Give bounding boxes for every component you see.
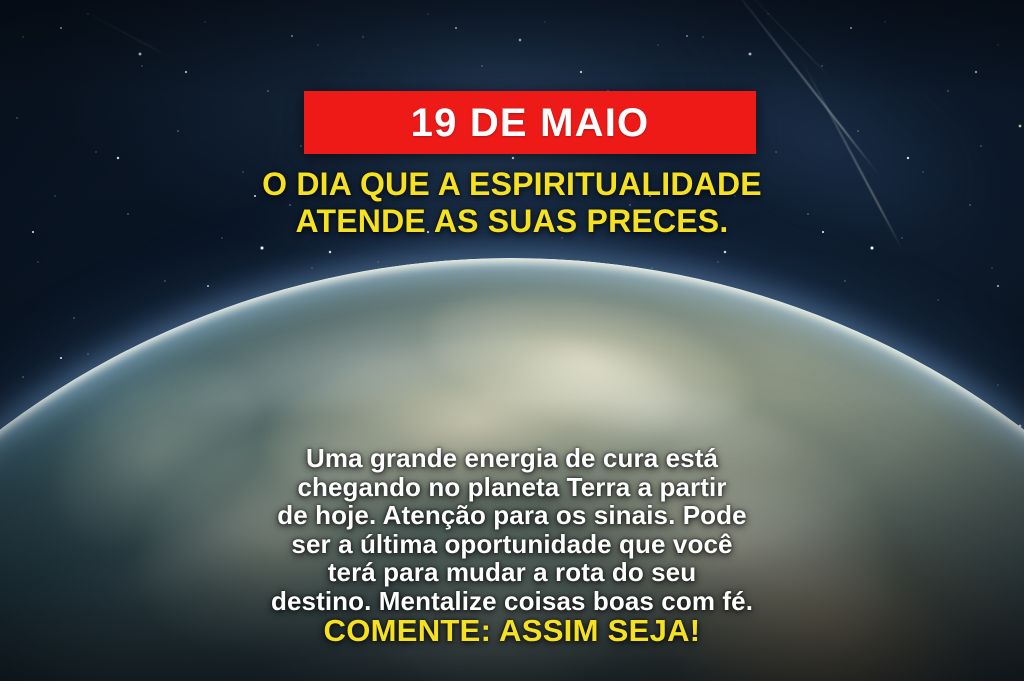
bottom-white-strip bbox=[0, 681, 1024, 685]
body-copy-line-2: chegando no planeta Terra a partir bbox=[0, 473, 1024, 502]
call-to-action: COMENTE: ASSIM SEJA! bbox=[0, 615, 1024, 646]
body-copy-line-1: Uma grande energia de cura está bbox=[0, 444, 1024, 473]
body-copy: Uma grande energia de cura está chegando… bbox=[0, 444, 1024, 616]
date-badge: 19 DE MAIO bbox=[304, 91, 756, 154]
headline-line-1: O DIA QUE A ESPIRITUALIDADE bbox=[0, 166, 1024, 203]
date-badge-label: 19 DE MAIO bbox=[411, 103, 650, 143]
body-copy-line-5: terá para mudar a rota do seu bbox=[0, 558, 1024, 587]
body-copy-line-6: destino. Mentalize coisas boas com fé. bbox=[0, 587, 1024, 616]
body-copy-line-4: ser a última oportunidade que você bbox=[0, 530, 1024, 559]
headline: O DIA QUE A ESPIRITUALIDADE ATENDE AS SU… bbox=[0, 166, 1024, 240]
poster-canvas: 19 DE MAIO O DIA QUE A ESPIRITUALIDADE A… bbox=[0, 0, 1024, 685]
headline-line-2: ATENDE AS SUAS PRECES. bbox=[0, 203, 1024, 240]
body-copy-line-3: de hoje. Atenção para os sinais. Pode bbox=[0, 501, 1024, 530]
